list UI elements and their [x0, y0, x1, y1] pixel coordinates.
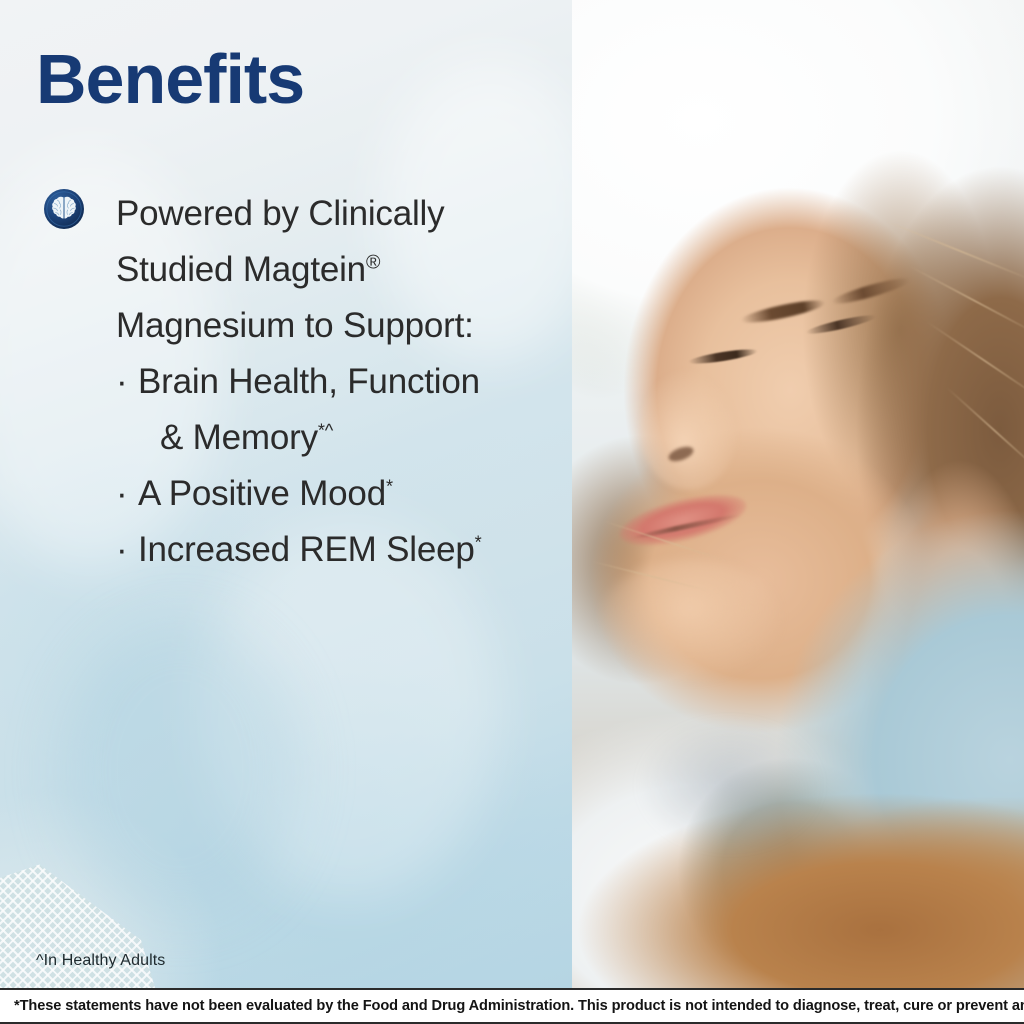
- photo-nose: [640, 370, 738, 490]
- photo-closed-eye-left: [688, 347, 759, 367]
- registered-trademark-symbol: ®: [366, 251, 380, 273]
- page-title: Benefits: [36, 44, 304, 114]
- bullet-dot: ·: [116, 466, 138, 522]
- benefit-lead-line-2: Studied Magtein®: [116, 242, 568, 298]
- photo-hair-strand: [926, 321, 1024, 401]
- bullet-dot: ·: [116, 354, 138, 410]
- panel-light-blob: [60, 620, 300, 920]
- benefit-item-text: A Positive Mood: [138, 474, 386, 513]
- photo-eyebrow-right: [830, 274, 912, 308]
- benefit-lead-line-2-text: Studied Magtein: [116, 250, 366, 289]
- benefit-lead-line-1: Powered by Clinically: [116, 186, 568, 242]
- fda-disclaimer-text: *These statements have not been evaluate…: [0, 998, 1024, 1014]
- fda-disclaimer-bar: *These statements have not been evaluate…: [0, 988, 1024, 1024]
- photo-hair-strand: [885, 220, 1024, 282]
- bullet-dot: ·: [116, 522, 138, 578]
- benefit-list-item: ·A Positive Mood*: [116, 466, 568, 522]
- product-benefits-graphic: Benefits: [0, 0, 1024, 1024]
- benefit-item-text: Brain Health, Function: [138, 362, 480, 401]
- benefit-item-text-cont: & Memory: [160, 418, 318, 457]
- photo-closed-eye-right: [805, 312, 877, 337]
- benefit-item-text: Increased REM Sleep: [138, 530, 475, 569]
- photo-lips: [615, 485, 751, 555]
- benefit-item-marks: *^: [318, 420, 333, 440]
- photo-hair-strand: [908, 265, 1024, 337]
- benefits-copy-block: Powered by Clinically Studied Magtein® M…: [116, 186, 568, 578]
- benefit-item-marks: *: [475, 532, 482, 552]
- benefit-item-marks: *: [386, 476, 393, 496]
- brain-icon: [44, 189, 84, 229]
- benefit-list-item: ·Brain Health, Function& Memory*^: [116, 354, 568, 466]
- benefit-sub-list: ·Brain Health, Function& Memory*^ ·A Pos…: [116, 354, 568, 578]
- benefit-list-item: ·Increased REM Sleep*: [116, 522, 568, 578]
- photo-shirt-fold: [640, 720, 820, 850]
- photo-eyebrow-left: [740, 296, 827, 327]
- benefit-lead-line-3: Magnesium to Support:: [116, 298, 568, 354]
- photo-hair-strand: [946, 387, 1024, 475]
- healthy-adults-footnote: ^In Healthy Adults: [36, 952, 165, 970]
- photo-chin: [600, 560, 780, 680]
